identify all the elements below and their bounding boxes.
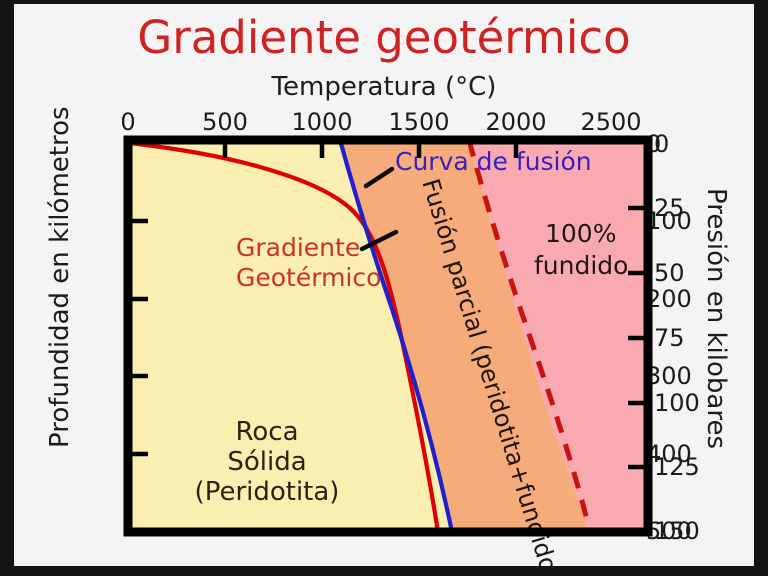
zone-fills xyxy=(128,140,648,532)
figure-outer-frame: Gradiente geotérmico Temperatura (°C) Pr… xyxy=(0,0,768,576)
annotation-solid-rock-line3: (Peridotita) xyxy=(195,477,340,507)
annotation-geotherm-line2: Geotérmico xyxy=(236,263,381,292)
annotation-fully-molten-line2: fundido xyxy=(534,251,628,280)
annotation-solid-rock-line2: Sólida xyxy=(227,447,306,477)
annotation-geotherm-line1: Gradiente xyxy=(236,233,360,262)
plot-area: Curva de fusión Gradiente Geotérmico 100… xyxy=(14,4,754,566)
annotation-solid-rock-line1: Roca xyxy=(235,417,298,447)
annotation-fully-molten-line1: 100% xyxy=(545,219,616,248)
figure-canvas: Gradiente geotérmico Temperatura (°C) Pr… xyxy=(14,4,754,566)
annotation-melting-curve: Curva de fusión xyxy=(395,147,592,176)
chart-svg: Curva de fusión Gradiente Geotérmico 100… xyxy=(14,4,754,566)
